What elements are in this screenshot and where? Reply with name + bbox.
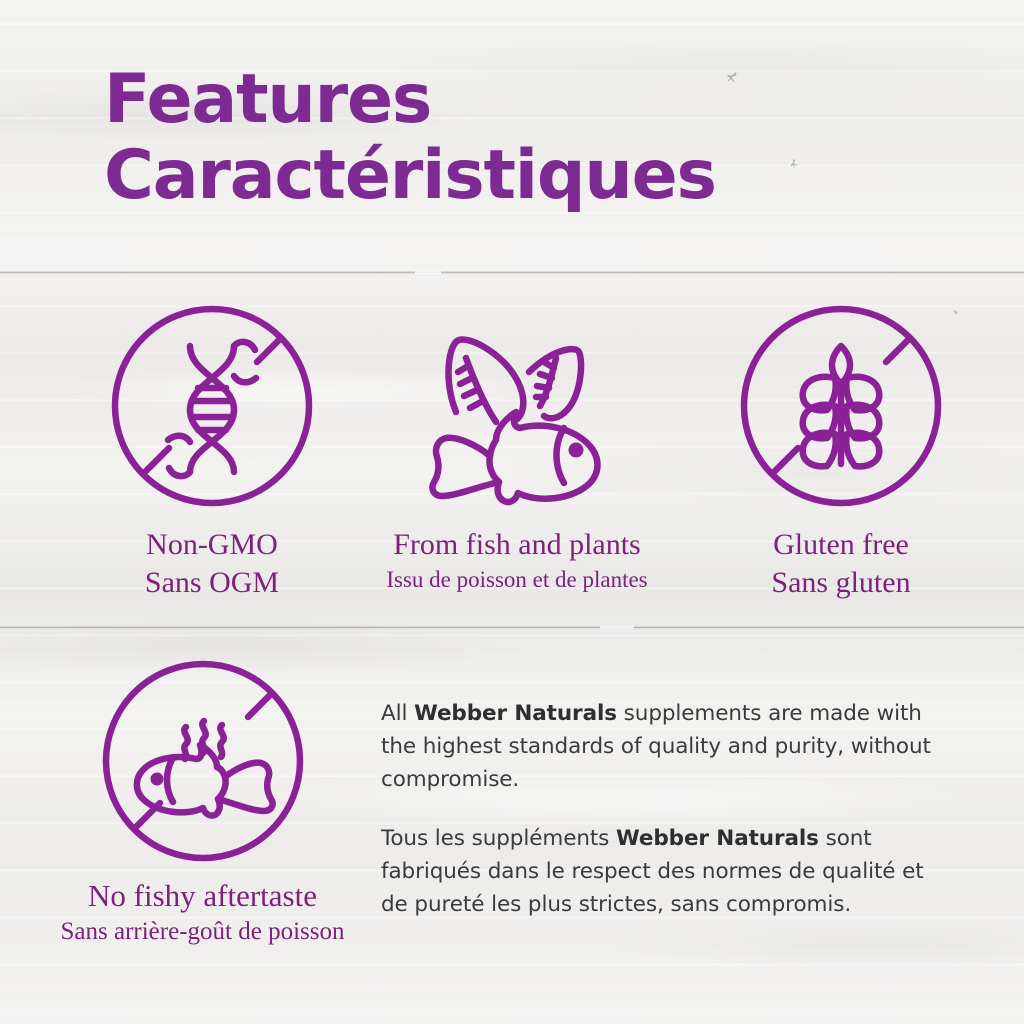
feature-label-fr: Sans gluten [676,564,1006,602]
feature-label-en: No fishy aftertaste [20,877,385,915]
feature-gluten-free: Gluten free Sans gluten [676,300,1006,602]
page-title: Features Caractéristiques [104,62,716,214]
feature-from-fish-and-plants: From fish and plants Issu de poisson et … [352,300,682,596]
feature-no-fishy-aftertaste: No fishy aftertaste Sans arrière-goût de… [20,655,385,949]
wheat-no-circle-icon [735,300,947,512]
page-title-fr: Caractéristiques [104,138,716,214]
brand-name-en: Webber Naturals [414,701,617,726]
body-copy: All Webber Naturals supplements are made… [381,697,941,921]
body-paragraph-en: All Webber Naturals supplements are made… [381,697,941,796]
feature-label-fr: Issu de poisson et de plantes [352,564,682,596]
feature-label-en: Gluten free [676,526,1006,564]
fish-odor-no-circle-icon [97,655,309,867]
brand-name-fr: Webber Naturals [616,826,819,851]
body-fr-before: Tous les suppléments [381,826,616,851]
feature-label-en: Non-GMO [42,526,382,564]
feature-label-fr: Sans arrière-goût de poisson [20,915,385,949]
feature-label-en: From fish and plants [352,526,682,564]
page-title-en: Features [104,62,716,138]
dna-no-circle-icon [106,300,318,512]
body-en-before: All [381,701,414,726]
feature-infographic: ⊀ ⊀ ⌁ Features Caractéristiques [0,0,1024,1024]
body-paragraph-fr: Tous les suppléments Webber Naturals son… [381,822,941,921]
feature-label-fr: Sans OGM [42,564,382,602]
feature-non-gmo: Non-GMO Sans OGM [42,300,382,602]
fish-and-leaves-icon [404,300,630,512]
